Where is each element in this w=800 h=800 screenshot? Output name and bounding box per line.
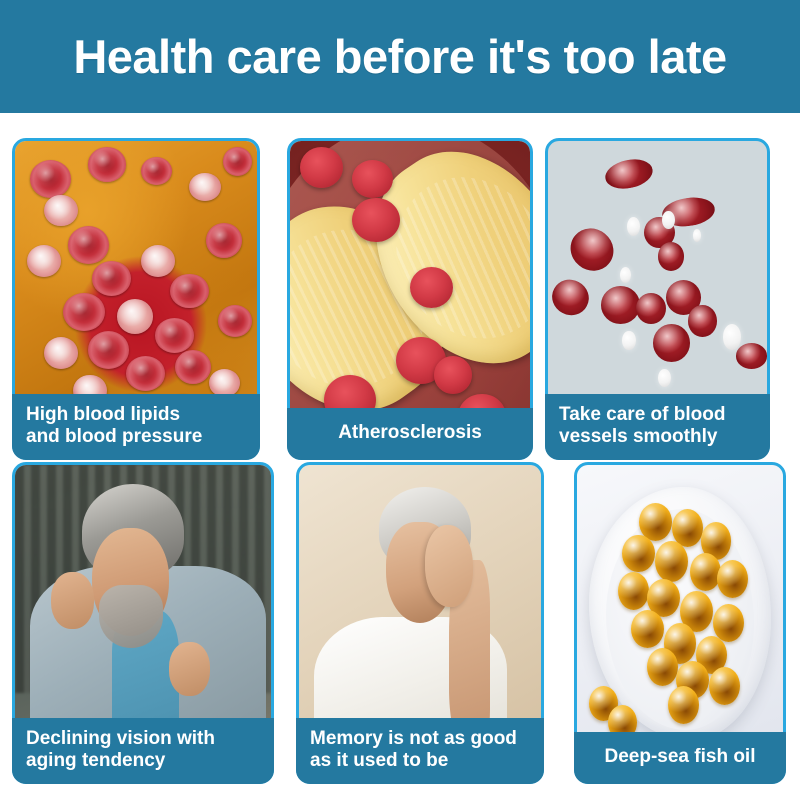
card-declining-vision[interactable]: Declining vision with aging tendency bbox=[12, 462, 274, 784]
card-take-care-of-blood-vessels[interactable]: Take care of blood vessels smoothly bbox=[545, 138, 770, 460]
card-caption-high-blood-lipids: High blood lipids and blood pressure bbox=[12, 394, 260, 460]
card-caption-memory-decline: Memory is not as good as it used to be bbox=[296, 718, 544, 784]
caption-line-2: vessels smoothly bbox=[559, 426, 756, 448]
card-caption-atherosclerosis: Atherosclerosis bbox=[287, 408, 533, 460]
card-caption-fish-oil: Deep-sea fish oil bbox=[574, 732, 786, 784]
caption-line-2: and blood pressure bbox=[26, 426, 246, 448]
card-caption-declining-vision: Declining vision with aging tendency bbox=[12, 718, 274, 784]
caption-line-2: aging tendency bbox=[26, 750, 260, 772]
benefits-grid: High blood lipids and blood pressure bbox=[0, 113, 800, 800]
caption-line-1: Memory is not as good bbox=[310, 728, 530, 750]
card-deep-sea-fish-oil[interactable]: Deep-sea fish oil bbox=[574, 462, 786, 784]
grid-row-1: High blood lipids and blood pressure bbox=[0, 138, 800, 460]
grid-row-2: Declining vision with aging tendency bbox=[0, 462, 800, 784]
caption-line-1: Atherosclerosis bbox=[338, 422, 482, 444]
page-title: Health care before it's too late bbox=[73, 29, 726, 84]
caption-line-1: Declining vision with bbox=[26, 728, 260, 750]
card-memory-decline[interactable]: Memory is not as good as it used to be bbox=[296, 462, 544, 784]
card-atherosclerosis[interactable]: Atherosclerosis bbox=[287, 138, 533, 460]
card-caption-blood-vessels: Take care of blood vessels smoothly bbox=[545, 394, 770, 460]
caption-line-2: as it used to be bbox=[310, 750, 530, 772]
caption-line-1: Deep-sea fish oil bbox=[605, 746, 756, 768]
caption-line-1: Take care of blood bbox=[559, 404, 756, 426]
page-header-banner: Health care before it's too late bbox=[0, 0, 800, 113]
card-high-blood-lipids[interactable]: High blood lipids and blood pressure bbox=[12, 138, 260, 460]
caption-line-1: High blood lipids bbox=[26, 404, 246, 426]
